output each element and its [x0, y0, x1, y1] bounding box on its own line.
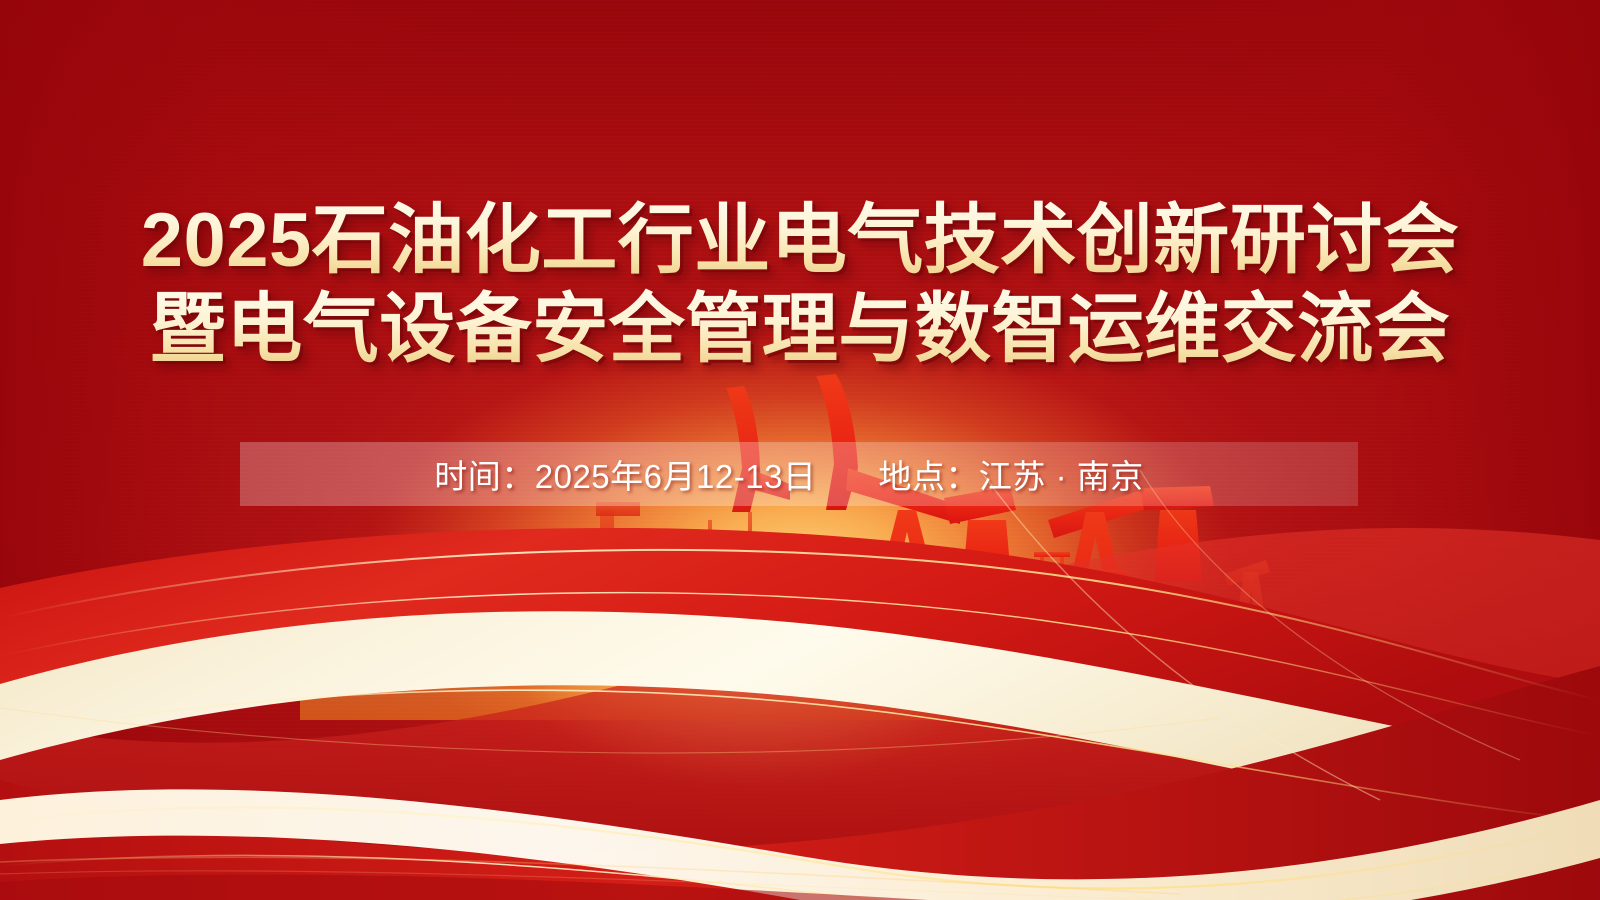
event-location-text: 地点：江苏 · 南京	[878, 450, 1143, 498]
conference-banner: 2025石油化工行业电气技术创新研讨会 暨电气设备安全管理与数智运维交流会 时间…	[0, 0, 1600, 900]
title-line-2: 暨电气设备安全管理与数智运维交流会	[0, 285, 1600, 374]
banner-title: 2025石油化工行业电气技术创新研讨会 暨电气设备安全管理与数智运维交流会	[0, 196, 1600, 374]
event-date-text: 时间：2025年6月12-13日	[434, 450, 816, 498]
event-info-inner: 时间：2025年6月12-13日 地点：江苏 · 南京	[434, 450, 1144, 498]
title-line-1: 2025石油化工行业电气技术创新研讨会	[0, 196, 1600, 285]
ribbon-wave-graphic	[0, 470, 1600, 900]
event-info-bar: 时间：2025年6月12-13日 地点：江苏 · 南京	[240, 442, 1358, 506]
